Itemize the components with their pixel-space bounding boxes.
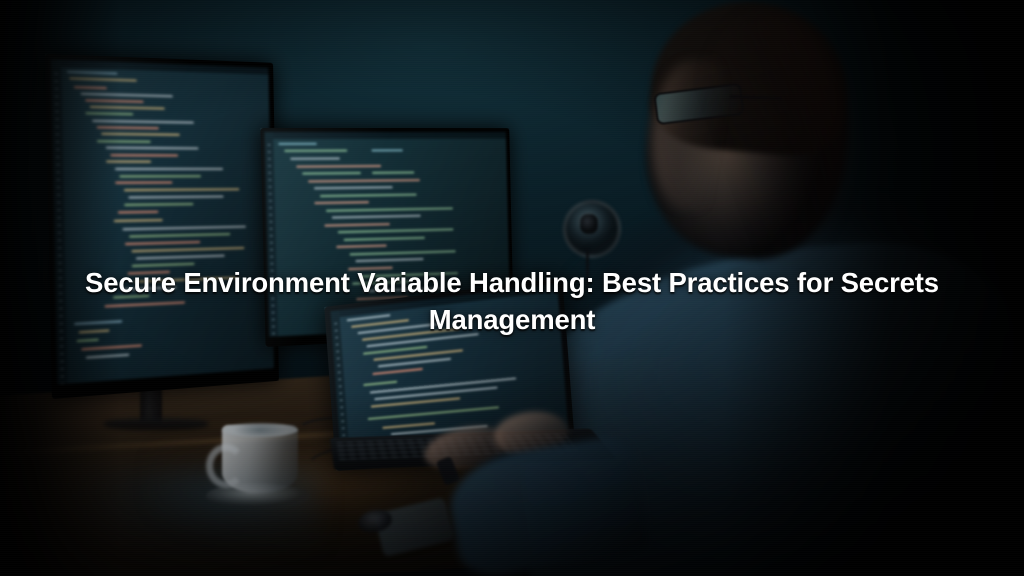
title-overlay: Secure Environment Variable Handling: Be… <box>0 264 1024 338</box>
blog-header-image: Secure Environment Variable Handling: Be… <box>0 0 1024 576</box>
page-title: Secure Environment Variable Handling: Be… <box>0 264 1024 338</box>
